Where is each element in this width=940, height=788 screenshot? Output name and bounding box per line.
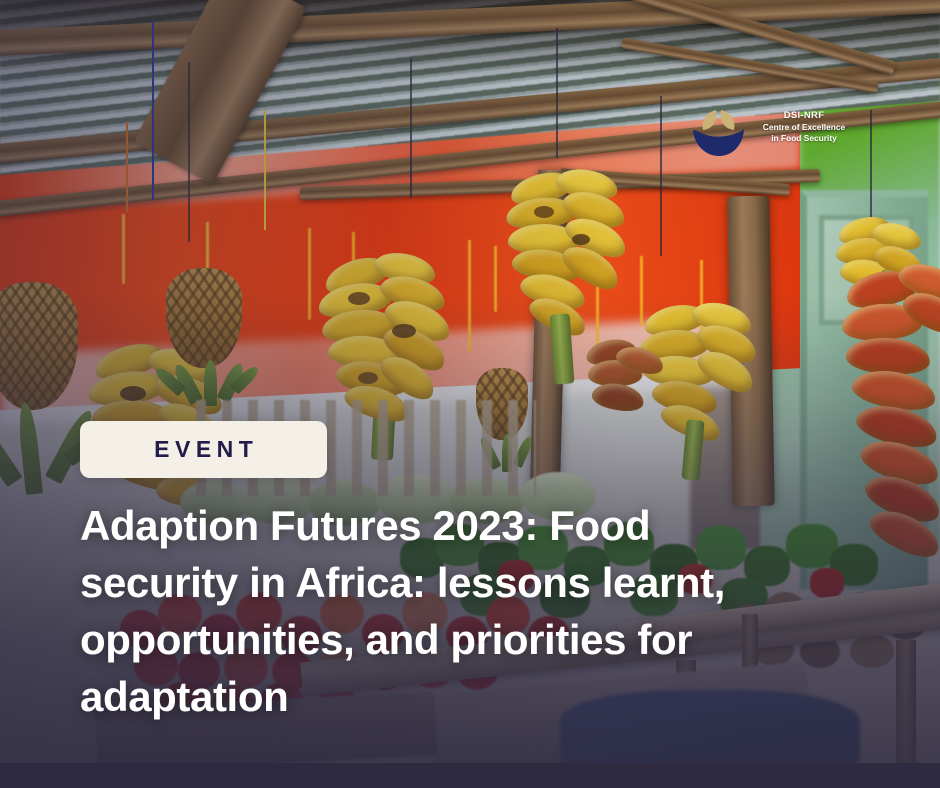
logo-text-block: DSI-NRF Centre of Excellence in Food Sec…: [750, 110, 858, 144]
event-badge: EVENT: [80, 421, 327, 478]
logo-line-food-security: in Food Security: [750, 133, 858, 144]
event-banner: DSI-NRF Centre of Excellence in Food Sec…: [0, 0, 940, 788]
coe-logo: DSI-NRF Centre of Excellence in Food Sec…: [690, 104, 858, 166]
page-title: Adaption Futures 2023: Food security in …: [80, 497, 760, 725]
bottom-bar: [0, 763, 940, 788]
event-badge-label: EVENT: [149, 436, 259, 463]
bowl-with-leaves-logo-icon: [690, 104, 748, 160]
logo-line-centre: Centre of Excellence: [750, 122, 858, 133]
logo-line-dsi-nrf: DSI-NRF: [750, 110, 858, 122]
